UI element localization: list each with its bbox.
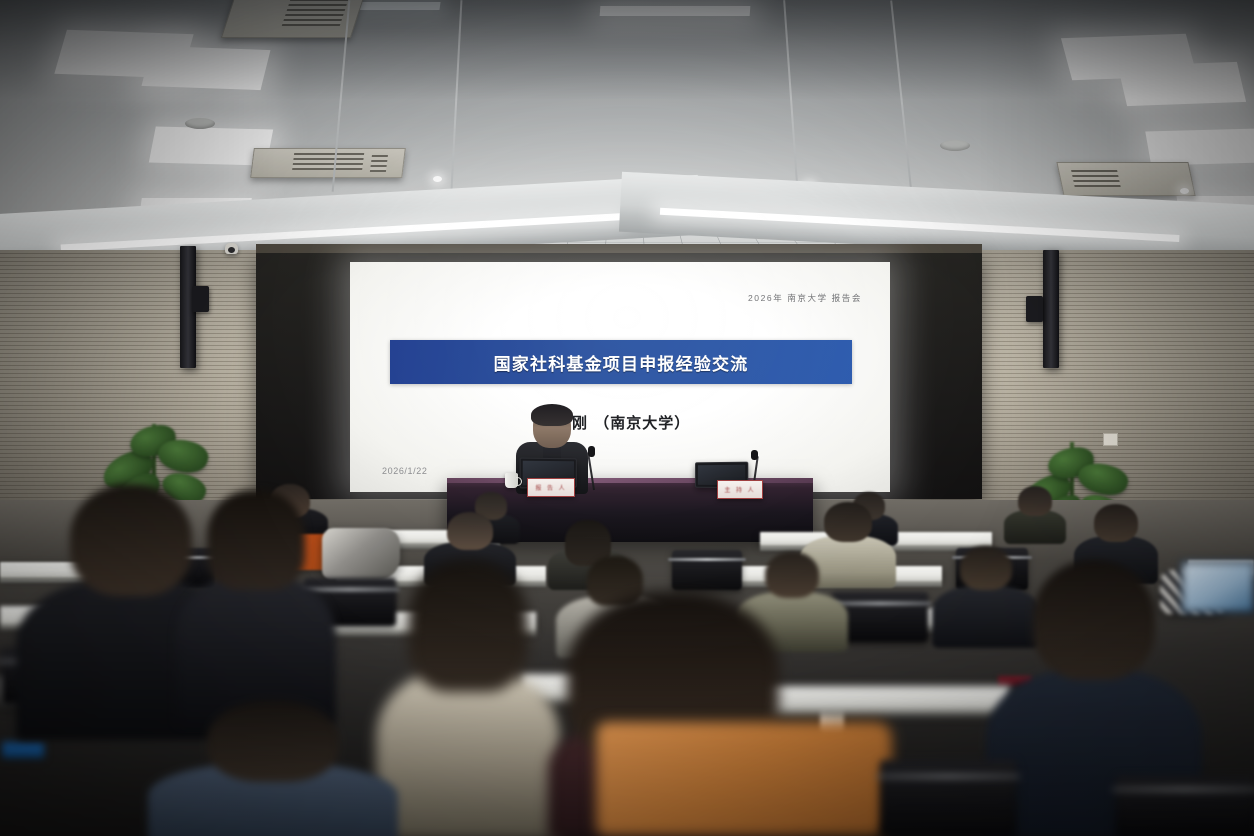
slide-title-text: 国家社科基金项目申报经验交流 (494, 350, 749, 375)
slide-speaker-text: 李 刚 （南京大学） (350, 412, 890, 433)
speaker-bracket (1026, 296, 1043, 322)
chair-frame (876, 775, 1020, 778)
audience-hair (207, 490, 305, 590)
lecture-hall-photo: 2026年 南京大学 报告会 国家社科基金项目申报经验交流 李 刚 （南京大学）… (0, 0, 1254, 836)
soffit-light-strip (660, 208, 1180, 242)
ceiling (0, 0, 1254, 262)
chair[interactable] (880, 760, 1016, 836)
audience-torso (376, 670, 560, 836)
name-placard: 报 告 人 (527, 478, 575, 497)
chair[interactable] (672, 550, 742, 590)
chair-frame (1112, 788, 1254, 791)
chair[interactable] (1116, 776, 1254, 836)
audience-member (1004, 486, 1066, 542)
slide-date-text: 2026/1/22 (382, 466, 427, 476)
audience-head (1094, 504, 1138, 542)
name-placard-text: 主 持 人 (724, 485, 755, 494)
projection-screen: 2026年 南京大学 报告会 国家社科基金项目申报经验交流 李 刚 （南京大学）… (350, 262, 890, 492)
blue-pen-case[interactable] (2, 742, 44, 758)
name-placard: 主 持 人 (717, 480, 763, 499)
chair-frame (668, 558, 746, 561)
audience-head (1018, 486, 1052, 516)
microphone (588, 446, 595, 457)
presenter-hair (531, 404, 573, 426)
audience-head (447, 512, 493, 550)
draped-coat (596, 722, 892, 836)
microphone (751, 450, 758, 460)
audience-head (70, 484, 192, 596)
audience-head (207, 700, 339, 782)
name-placard-text: 报 告 人 (535, 483, 566, 492)
coffee-mug (505, 473, 518, 488)
chair-back (1116, 776, 1254, 836)
security-camera (225, 243, 238, 254)
chair-back (880, 760, 1016, 836)
surround-top-trim (256, 244, 982, 253)
slide-header-text: 2026年 南京大学 报告会 (748, 292, 862, 304)
audience-hair (408, 560, 528, 692)
speaker-bracket (192, 286, 209, 312)
chair-back (672, 550, 742, 590)
audience-head (1033, 560, 1155, 680)
audience-member (376, 560, 560, 836)
audience-head (824, 502, 872, 542)
wall-speaker (1043, 250, 1059, 368)
audience-member (148, 700, 398, 836)
slide-title-bar: 国家社科基金项目申报经验交流 (390, 340, 852, 384)
audience-member (176, 490, 336, 720)
